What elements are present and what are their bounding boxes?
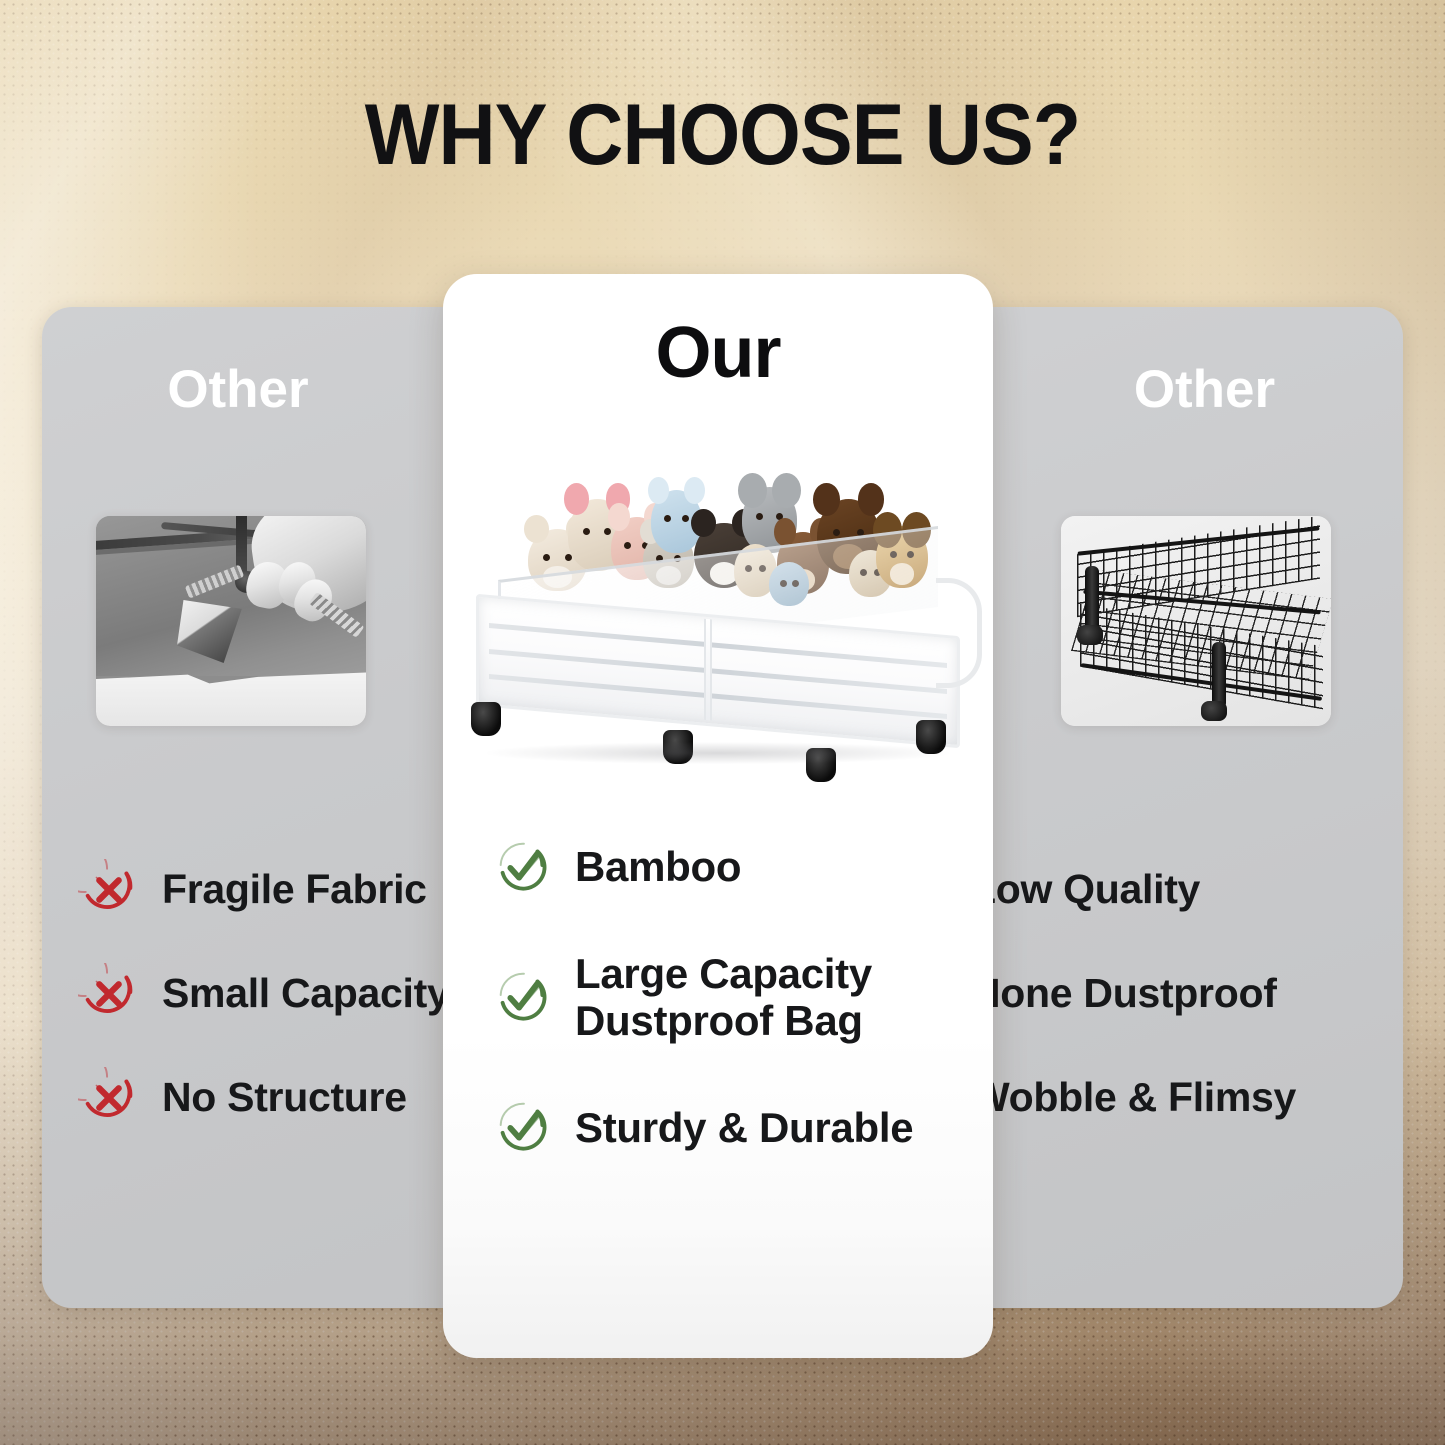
feature-list-our: Bamboo Large Capacity Dustproof Bag xyxy=(491,836,971,1210)
list-item-label: Small Capacity xyxy=(162,971,450,1017)
caster-wheel-icon xyxy=(1077,625,1103,645)
pull-handle-icon xyxy=(936,578,982,688)
list-item-label: No Structure xyxy=(162,1075,407,1121)
page-title: WHY CHOOSE US? xyxy=(58,86,1387,185)
caster-wheel-icon xyxy=(1201,701,1227,721)
caster-wheel-icon xyxy=(471,702,501,736)
wire-frame-post xyxy=(1212,642,1226,709)
panel-label-our: Our xyxy=(443,312,993,394)
list-item-label: Low Quality xyxy=(971,867,1200,913)
check-circle-icon xyxy=(491,966,553,1028)
list-item-label: Large Capacity Dustproof Bag xyxy=(575,950,872,1044)
cross-circle-icon xyxy=(78,1067,140,1129)
photo-fragile-fabric xyxy=(96,516,366,726)
comparison-panel-our: Our xyxy=(443,274,993,1358)
list-item-label: Fragile Fabric xyxy=(162,867,427,913)
list-item-label: Sturdy & Durable xyxy=(575,1104,913,1151)
bin-slat xyxy=(489,649,948,694)
cross-circle-icon xyxy=(78,963,140,1025)
list-item: Large Capacity Dustproof Bag xyxy=(491,950,971,1044)
bin-center-divider xyxy=(704,619,712,721)
bin-slat xyxy=(489,674,948,719)
photo-floor xyxy=(96,671,366,726)
list-item: Sturdy & Durable xyxy=(491,1096,971,1158)
photo-our-storage-bin xyxy=(443,460,993,770)
list-item: Bamboo xyxy=(491,836,971,898)
cross-circle-icon xyxy=(78,859,140,921)
check-circle-icon xyxy=(491,836,553,898)
list-item-label: Bamboo xyxy=(575,843,741,890)
product-shadow xyxy=(487,742,949,764)
list-item-label: Wobble & Flimsy xyxy=(971,1075,1296,1121)
bin-slat xyxy=(489,623,948,668)
list-item-label: None Dustproof xyxy=(971,971,1277,1017)
photo-wire-mesh-basket xyxy=(1061,516,1331,726)
check-circle-icon xyxy=(491,1096,553,1158)
